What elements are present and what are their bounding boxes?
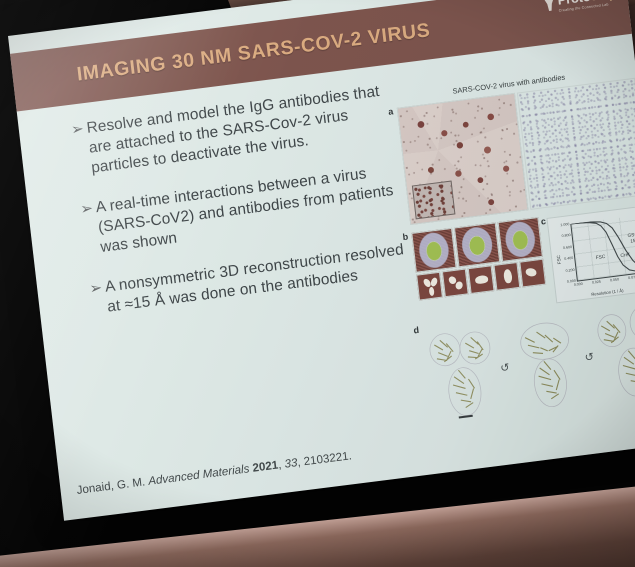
y-tick: 1.000 xyxy=(560,222,569,227)
y-axis-label: FSC xyxy=(556,255,562,265)
figure-panel: Protochips Creating the Connected Lab a … xyxy=(384,54,635,443)
panel-label-c: c xyxy=(540,216,546,227)
fsc-annotation: GS-FSC 15.1 Å xyxy=(627,231,635,245)
tem-micrograph-false-color xyxy=(517,78,635,210)
antibody-3d-model xyxy=(591,298,635,406)
tomogram-slice xyxy=(497,217,543,262)
x-axis-label: Resolution (1 / Å) xyxy=(557,284,635,302)
x-tick: 0.025 xyxy=(592,279,601,284)
micrograph-speckle xyxy=(518,79,635,209)
antibody-3d-model xyxy=(422,320,503,428)
tomogram-slice xyxy=(454,222,500,267)
antibody-model-row: ↺ xyxy=(422,296,635,429)
fsc-curves xyxy=(571,215,635,281)
tem-micrograph-grayscale xyxy=(397,93,529,225)
plot-area: 0.000 0.200 0.400 0.600 0.800 1.000 0.00… xyxy=(570,215,635,282)
class-average xyxy=(416,272,443,301)
rotation-marker-icon: ↺ xyxy=(499,362,510,374)
class-average xyxy=(519,259,546,288)
antibody-3d-model xyxy=(507,309,588,417)
panel-label-a: a xyxy=(388,106,394,117)
x-tick: 0.000 xyxy=(574,281,583,286)
x-tick: 0.075 xyxy=(628,275,635,280)
series-line-fsc xyxy=(571,215,635,280)
class-average xyxy=(442,268,469,297)
x-tick: 0.050 xyxy=(610,277,619,282)
panel-label-b: b xyxy=(402,231,409,242)
panel-d: ↺ xyxy=(422,296,635,429)
panel-a xyxy=(397,78,635,225)
antibody-structure-icon xyxy=(591,298,635,406)
y-tick: 0.200 xyxy=(565,267,574,272)
y-tick: 0.600 xyxy=(563,245,572,250)
citation-authors: Jonaid, G. M. xyxy=(76,475,146,497)
arrow-bullet-icon: ➢ xyxy=(89,278,106,319)
tomogram-slice xyxy=(411,228,457,273)
presentation-slide: IMAGING 30 NM SARS-COV-2 VIRUS ➢ Resolve… xyxy=(8,0,635,521)
class-average xyxy=(494,262,521,291)
panel-label-d: d xyxy=(413,325,420,336)
panel-b xyxy=(411,217,546,301)
conference-room-photo: IMAGING 30 NM SARS-COV-2 VIRUS ➢ Resolve… xyxy=(0,0,635,567)
projection-screen: IMAGING 30 NM SARS-COV-2 VIRUS ➢ Resolve… xyxy=(8,0,635,521)
antibody-structure-icon xyxy=(422,320,503,428)
citation-volume: 33 xyxy=(284,456,298,471)
citation-year: 2021 xyxy=(252,459,279,475)
series-line-cref xyxy=(571,215,635,280)
page-title: IMAGING 30 NM SARS-COV-2 VIRUS xyxy=(76,19,432,86)
flask-icon xyxy=(543,0,556,12)
citation: Jonaid, G. M. Advanced Materials 2021, 3… xyxy=(76,449,353,497)
rotation-marker-icon: ↺ xyxy=(584,352,595,364)
citation-journal: Advanced Materials xyxy=(148,462,251,488)
antibody-structure-icon xyxy=(507,309,588,417)
fsc-chart: FSC 0.000 0.200 0.400 0.600 0.800 1.000 … xyxy=(546,205,635,303)
y-tick: 0.800 xyxy=(561,233,570,238)
y-tick: 0.400 xyxy=(564,256,573,261)
bullet-text: A real-time interactions between a virus… xyxy=(95,159,414,258)
zoom-inset xyxy=(412,181,456,220)
bullet-list: ➢ Resolve and model the IgG antibodies t… xyxy=(70,80,423,340)
class-average xyxy=(468,265,495,294)
citation-pages: 2103221. xyxy=(303,449,352,468)
